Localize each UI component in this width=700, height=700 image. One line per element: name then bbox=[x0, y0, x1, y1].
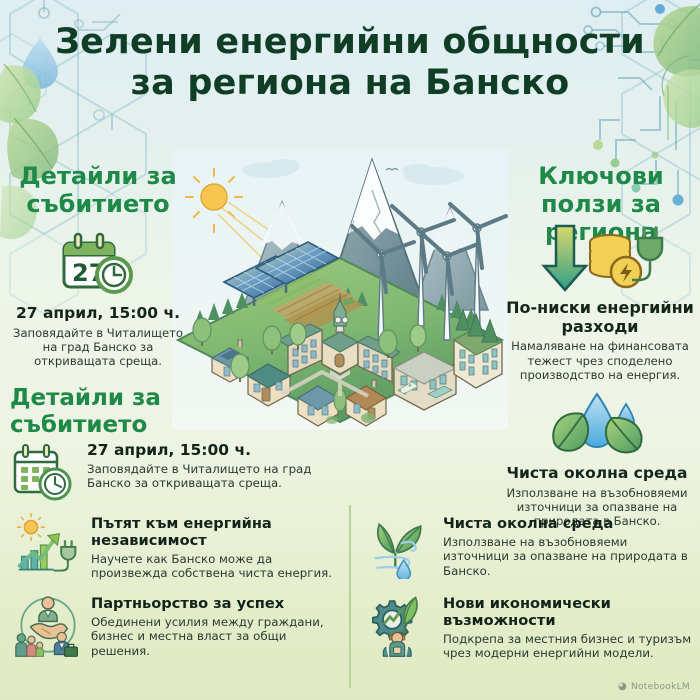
circuit-node-icon bbox=[39, 8, 49, 18]
page-title: Зелени енергийни общности за региона на … bbox=[0, 22, 700, 105]
family-icon bbox=[16, 634, 44, 657]
list-item-text: 27 април, 15:00 ч. Заповядайте в Читалищ… bbox=[87, 438, 340, 491]
village-illustration bbox=[172, 150, 508, 430]
circuit-node-icon bbox=[94, 110, 104, 120]
list-item-title: Чиста околна среда bbox=[443, 516, 696, 533]
list-item: 27 април, 15:00 ч. Заповядайте в Читалищ… bbox=[10, 438, 340, 506]
notebooklm-logo-icon: ◕ bbox=[618, 681, 627, 692]
calendar-clock-icon: 27 bbox=[6, 228, 190, 300]
watermark-label: NotebookLM bbox=[631, 682, 690, 692]
list-item-title: Партньорство за успех bbox=[91, 596, 344, 613]
list-item-text: Нови икономически възможности Подкрепа з… bbox=[443, 592, 696, 661]
title-line-2: за региона на Банско bbox=[0, 63, 700, 104]
sprout-wind-drop-icon bbox=[366, 512, 434, 580]
list-item-text: Чиста околна среда Използване на възобно… bbox=[443, 512, 696, 578]
list-item: Пътят към енергийна независимост Научете… bbox=[14, 512, 344, 581]
feature-title: Чиста околна среда bbox=[494, 464, 700, 483]
list-item: Чиста околна среда Използване на възобно… bbox=[366, 512, 696, 580]
worker-icon bbox=[383, 632, 411, 656]
handshake-people-icon bbox=[14, 592, 82, 660]
person-icon bbox=[39, 597, 57, 621]
list-item-text: Партньорство за успех Обединени усилия м… bbox=[91, 592, 344, 658]
feature-lower-costs: По-ниски енергийни разходи Намаляване на… bbox=[500, 222, 700, 383]
leaf-water-drop-icon bbox=[494, 388, 700, 460]
list-item-title: Нови икономически възможности bbox=[443, 596, 696, 630]
calendar-clock-icon bbox=[10, 438, 78, 506]
list-item: Нови икономически възможности Подкрепа з… bbox=[366, 592, 696, 661]
notebooklm-watermark: ◕ NotebookLM bbox=[618, 681, 690, 692]
list-item-description: Използване на възобновяеми източници за … bbox=[443, 535, 696, 578]
sun-growth-chart-plug-icon bbox=[14, 512, 82, 580]
businessperson-icon bbox=[54, 632, 77, 656]
down-arrow-coins-plug-icon bbox=[500, 222, 700, 294]
feature-event-details: 27 27 април, 15:00 ч. Заповядайте в Чита… bbox=[6, 228, 190, 369]
feature-clean-environment: Чиста околна среда Използване на възобно… bbox=[494, 388, 700, 529]
list-item-text: Пътят към енергийна независимост Научете… bbox=[91, 512, 344, 581]
feature-description: Заповядайте в Читалището на град Банско … bbox=[6, 326, 190, 369]
list-item-description: Подкрепа за местния бизнес и туризъм чре… bbox=[443, 632, 696, 661]
title-line-1: Зелени енергийни общности bbox=[0, 22, 700, 63]
infographic-page: Зелени енергийни общности за региона на … bbox=[0, 0, 700, 700]
column-divider bbox=[349, 505, 351, 688]
list-item-description: Обединени усилия между граждани, бизнес … bbox=[91, 615, 344, 658]
gear-sprout-worker-icon bbox=[366, 592, 434, 660]
section-heading-event-details: Детайли за събитието bbox=[8, 163, 188, 219]
feature-description: Намаляване на финансовата тежест чрез сп… bbox=[500, 339, 700, 382]
feature-title: По-ниски енергийни разходи bbox=[500, 298, 700, 336]
feature-title: 27 април, 15:00 ч. bbox=[6, 304, 190, 323]
section-heading-event-details-2: Детайли за събитието bbox=[10, 385, 200, 438]
list-item: Партньорство за успех Обединени усилия м… bbox=[14, 592, 344, 660]
list-item-title: Пътят към енергийна независимост bbox=[91, 516, 344, 550]
list-item-description: Заповядайте в Читалището на град Банско … bbox=[87, 462, 340, 491]
list-item-title: 27 април, 15:00 ч. bbox=[87, 442, 340, 460]
list-item-description: Научете как Банско може да произвежда со… bbox=[91, 552, 344, 581]
